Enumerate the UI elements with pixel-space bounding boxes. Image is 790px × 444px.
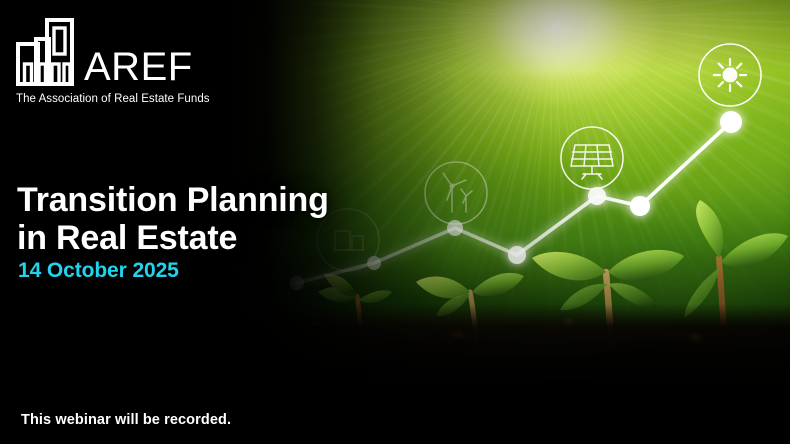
- page-title: Transition Planning in Real Estate: [17, 181, 407, 257]
- recording-notice: This webinar will be recorded.: [21, 412, 231, 428]
- headline-line-1: Transition Planning: [17, 181, 329, 219]
- building-skyline-icon: [14, 16, 76, 88]
- webinar-promo-slide: AREF The Association of Real Estate Fund…: [0, 0, 790, 444]
- brand-logo[interactable]: AREF The Association of Real Estate Fund…: [14, 16, 214, 105]
- text-panel: AREF The Association of Real Estate Fund…: [0, 0, 300, 444]
- brand-name: AREF: [84, 49, 193, 88]
- headline-line-2: in Real Estate: [17, 219, 407, 257]
- brand-tagline: The Association of Real Estate Funds: [16, 93, 214, 105]
- event-date: 14 October 2025: [18, 259, 179, 283]
